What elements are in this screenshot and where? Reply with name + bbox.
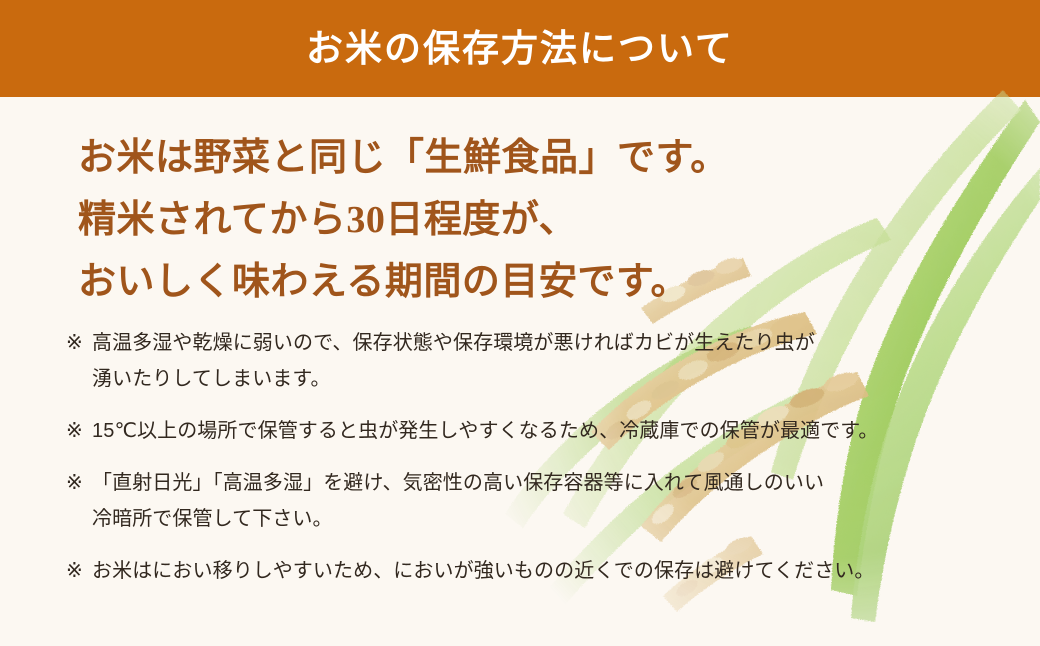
header-bar: お米の保存方法について [0, 0, 1040, 97]
poster-root: お米の保存方法について [0, 0, 1040, 646]
note-text: 「直射日光」「高温多湿」を避け、気密性の高い保存容器等に入れて風通しのいい 冷暗… [92, 465, 986, 537]
headline-block: お米は野菜と同じ「生鮮食品」です。 精米されてから30日程度が、 おいしく味わえ… [78, 127, 798, 313]
note-text: お米はにおい移りしやすいため、においが強いものの近くでの保存は避けてください。 [92, 553, 986, 589]
content-area: お米は野菜と同じ「生鮮食品」です。 精米されてから30日程度が、 おいしく味わえ… [0, 97, 1040, 646]
note-item: ※ 15℃以上の場所で保管すると虫が発生しやすくなるため、冷蔵庫での保管が最適で… [66, 413, 986, 449]
note-mark-icon: ※ [66, 413, 83, 449]
notes-list: ※ 高温多湿や乾燥に弱いので、保存状態や保存環境が悪ければカビが生えたり虫が 湧… [66, 325, 986, 589]
note-text: 高温多湿や乾燥に弱いので、保存状態や保存環境が悪ければカビが生えたり虫が 湧いた… [92, 325, 986, 397]
note-item: ※ お米はにおい移りしやすいため、においが強いものの近くでの保存は避けてください… [66, 553, 986, 589]
headline-line-1: お米は野菜と同じ「生鮮食品」です。 [78, 127, 798, 189]
note-text: 15℃以上の場所で保管すると虫が発生しやすくなるため、冷蔵庫での保管が最適です。 [92, 413, 986, 449]
note-mark-icon: ※ [66, 325, 83, 361]
note-item: ※ 高温多湿や乾燥に弱いので、保存状態や保存環境が悪ければカビが生えたり虫が 湧… [66, 325, 986, 397]
note-mark-icon: ※ [66, 465, 83, 501]
note-mark-icon: ※ [66, 553, 83, 589]
headline-line-2: 精米されてから30日程度が、 [78, 189, 798, 251]
note-item: ※ 「直射日光」「高温多湿」を避け、気密性の高い保存容器等に入れて風通しのいい … [66, 465, 986, 537]
page-title: お米の保存方法について [306, 30, 734, 67]
headline-line-3: おいしく味わえる期間の目安です。 [78, 251, 798, 313]
